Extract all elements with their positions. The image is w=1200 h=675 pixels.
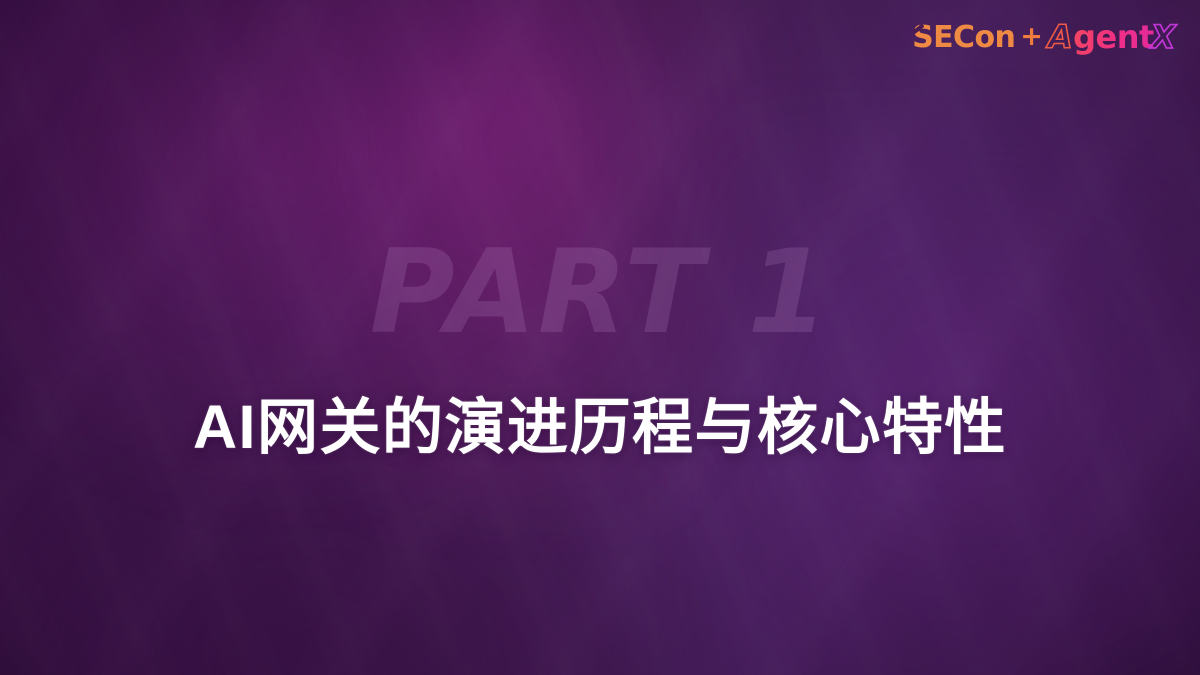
brand-logo: SECon + A gent X [912, 18, 1178, 56]
logo-agentx-x-letter: X [1151, 18, 1175, 56]
logo-plus-icon: + [1019, 21, 1044, 52]
logo-agentx-gent-letters: gent [1073, 18, 1154, 56]
logo-agentx-text: A gent X [1048, 18, 1178, 56]
background-vignette [0, 0, 1200, 675]
slide-title: AI网关的演进历程与核心特性 [0, 393, 1200, 461]
logo-agentx-a-letter: A [1048, 18, 1073, 56]
logo-secon-text: SECon [912, 20, 1015, 55]
slide-root: SECon + A gent X PART 1 AI网关的演进历程与核心特性 [0, 0, 1200, 675]
logo-secon-label: SECon [912, 20, 1015, 55]
